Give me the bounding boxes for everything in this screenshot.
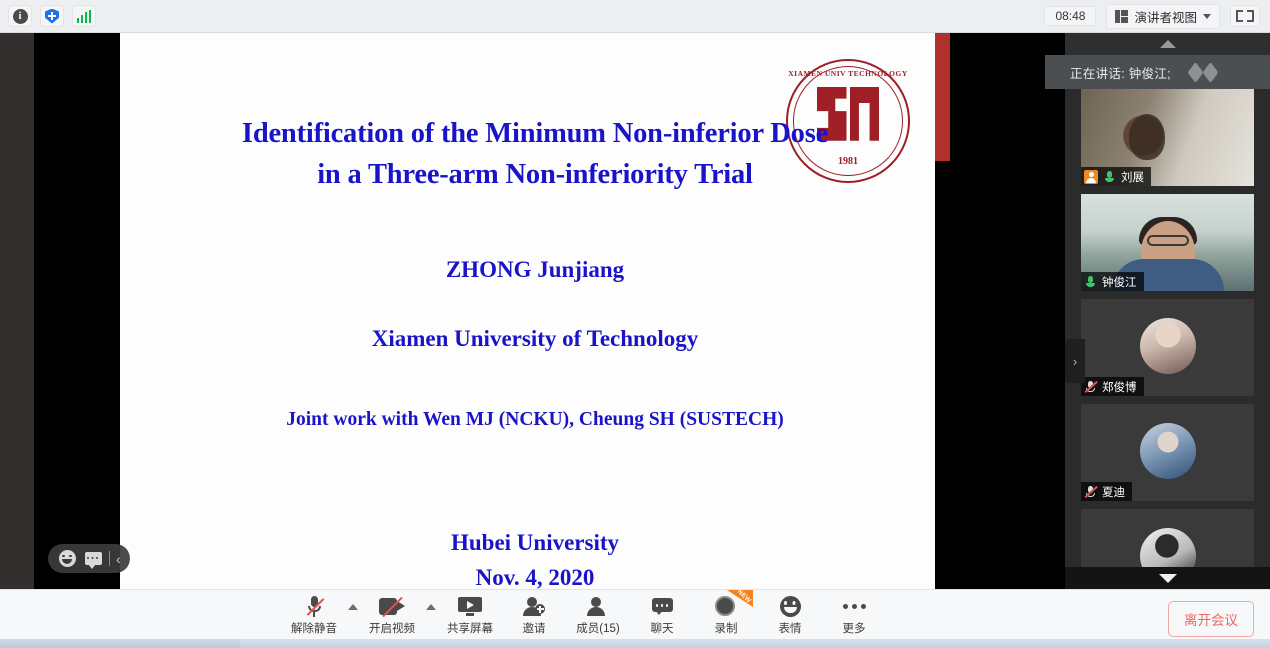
slide-title: Identification of the Minimum Non-inferi… (120, 113, 950, 195)
slide-joint-work: Joint work with Wen MJ (NCKU), Cheung SH… (120, 409, 950, 431)
participant-name: 刘展 (1121, 169, 1144, 185)
avatar (1140, 528, 1196, 567)
participant-thumbnail-xiadi[interactable]: 夏迪 (1081, 404, 1254, 501)
chevron-down-icon (1203, 14, 1211, 19)
audio-options-button[interactable] (346, 590, 360, 610)
shared-screen-area[interactable]: XIAMEN UNIV TECHNOLOGY 1981 Identificati… (34, 33, 1065, 589)
smiley-icon (59, 550, 76, 567)
toolbar-item-label: 解除静音 (291, 620, 337, 636)
share-screen-icon (458, 595, 482, 618)
toolbar-share-screen-button[interactable]: 共享屏幕 (438, 590, 502, 636)
toolbar-item-label: 录制 (715, 620, 738, 636)
participant-thumbnail-zhongjunjiang[interactable]: 钟俊江 (1081, 194, 1254, 291)
os-taskbar-right (240, 639, 1270, 648)
toolbar-unmute-button[interactable]: 解除静音 (282, 590, 346, 636)
avatar (1140, 423, 1196, 479)
microphone-muted-icon (306, 595, 323, 618)
leave-meeting-button[interactable]: 离开会议 (1168, 601, 1254, 637)
security-button[interactable] (40, 5, 64, 27)
info-icon: i (13, 9, 28, 24)
participant-name-badge: 钟俊江 (1081, 272, 1144, 291)
chevron-up-icon (426, 604, 436, 610)
participants-sidebar: 正在讲话: 钟俊江; 刘展 (1065, 33, 1270, 589)
active-speaker-label: 正在讲话: 钟俊江; (1070, 63, 1171, 82)
participants-icon (587, 595, 609, 618)
participant-thumbnail-liuzhan[interactable]: 刘展 (1081, 89, 1254, 186)
slide-title-line2: in a Three-arm Non-inferiority Trial (120, 154, 950, 195)
toolbar-item-label: 开启视频 (369, 620, 415, 636)
thumbnail-scroll-up-button[interactable] (1065, 33, 1270, 55)
more-dots-icon (843, 595, 866, 618)
toolbar-record-button[interactable]: NEW 录制 (694, 590, 758, 636)
microphone-muted-icon (1084, 485, 1097, 498)
slide-venue-name: Hubei University (120, 525, 950, 560)
audio-wave-icon (1189, 66, 1217, 79)
microphone-icon (1084, 275, 1097, 288)
participant-thumbnail-zhengjunbo[interactable]: 郑俊博 (1081, 299, 1254, 396)
chat-mini-button[interactable] (83, 549, 103, 569)
floating-mini-toolbar[interactable]: ‹ (48, 544, 130, 573)
meeting-toolbar: 解除静音 开启视频 共享屏幕 邀请 (0, 589, 1270, 639)
microphone-icon (1103, 170, 1116, 183)
slide-venue: Hubei University Nov. 4, 2020 (120, 525, 950, 589)
host-icon (1084, 170, 1098, 184)
participant-name-badge: 刘展 (1081, 167, 1151, 186)
slide-content: Identification of the Minimum Non-inferi… (120, 33, 950, 589)
toolbar-participants-button[interactable]: 成员(15) (566, 590, 630, 636)
info-button[interactable]: i (8, 5, 32, 27)
slide-title-line1: Identification of the Minimum Non-inferi… (120, 113, 950, 154)
chat-bubble-icon (85, 552, 102, 565)
network-button[interactable] (72, 5, 96, 27)
toolbar-item-label: 共享屏幕 (447, 620, 493, 636)
view-mode-label: 演讲者视图 (1134, 7, 1197, 26)
toolbar-item-label: 更多 (843, 620, 866, 636)
invite-person-icon (523, 595, 545, 618)
avatar (1140, 318, 1196, 374)
camera-off-icon (379, 595, 405, 618)
participant-name-badge: 郑俊博 (1081, 377, 1144, 396)
top-bar-right-controls: 08:48 演讲者视图 (1044, 4, 1270, 29)
chevron-up-icon (1160, 40, 1176, 48)
collapse-mini-toolbar-button[interactable]: ‹ (116, 552, 121, 566)
speaker-view-icon (1115, 10, 1128, 23)
slide-affiliation: Xiamen University of Technology (120, 326, 950, 352)
meeting-stage: XIAMEN UNIV TECHNOLOGY 1981 Identificati… (0, 33, 1270, 589)
participant-name: 钟俊江 (1102, 274, 1137, 290)
microphone-muted-icon (1084, 380, 1097, 393)
slide-date: Nov. 4, 2020 (120, 560, 950, 589)
participant-thumbnail-list[interactable]: 刘展 钟俊江 郑俊博 (1065, 89, 1270, 567)
participant-name: 郑俊博 (1102, 379, 1137, 395)
presentation-slide: XIAMEN UNIV TECHNOLOGY 1981 Identificati… (120, 33, 950, 589)
toolbar-reactions-button[interactable]: 表情 (758, 590, 822, 636)
divider (109, 551, 110, 566)
toolbar-items: 解除静音 开启视频 共享屏幕 邀请 (282, 590, 886, 640)
toolbar-item-label: 成员(15) (576, 620, 619, 636)
reactions-mini-button[interactable] (57, 549, 77, 569)
toolbar-invite-button[interactable]: 邀请 (502, 590, 566, 636)
chevron-down-icon (1159, 574, 1177, 583)
toolbar-item-label: 表情 (779, 620, 802, 636)
shield-icon (45, 9, 59, 24)
toolbar-more-button[interactable]: 更多 (822, 590, 886, 636)
toolbar-item-label: 聊天 (651, 620, 674, 636)
zoom-meeting-window: i 08:48 演讲者视图 (0, 0, 1270, 648)
participant-thumbnail-xukaidong[interactable]: 徐凯东 (1081, 509, 1254, 567)
chevron-up-icon (348, 604, 358, 610)
meeting-clock: 08:48 (1044, 6, 1096, 26)
record-icon: NEW (715, 595, 737, 618)
window-top-bar: i 08:48 演讲者视图 (0, 0, 1270, 33)
view-mode-selector[interactable]: 演讲者视图 (1106, 4, 1220, 29)
chat-icon (652, 595, 673, 618)
thumbnail-scroll-down-button[interactable] (1065, 567, 1270, 589)
toolbar-start-video-button[interactable]: 开启视频 (360, 590, 424, 636)
reactions-icon (780, 595, 801, 618)
toolbar-item-label: 邀请 (523, 620, 546, 636)
fullscreen-button[interactable] (1230, 5, 1260, 27)
slide-author: ZHONG Junjiang (120, 257, 950, 283)
signal-bars-icon (77, 10, 92, 23)
left-rail (0, 33, 34, 589)
participant-name: 夏迪 (1102, 484, 1125, 500)
top-bar-left-icons: i (0, 5, 96, 27)
active-speaker-banner: 正在讲话: 钟俊江; (1045, 55, 1270, 89)
toolbar-chat-button[interactable]: 聊天 (630, 590, 694, 636)
video-options-button[interactable] (424, 590, 438, 610)
participant-name-badge: 夏迪 (1081, 482, 1132, 501)
collapse-sidebar-button[interactable]: › (1065, 339, 1085, 383)
